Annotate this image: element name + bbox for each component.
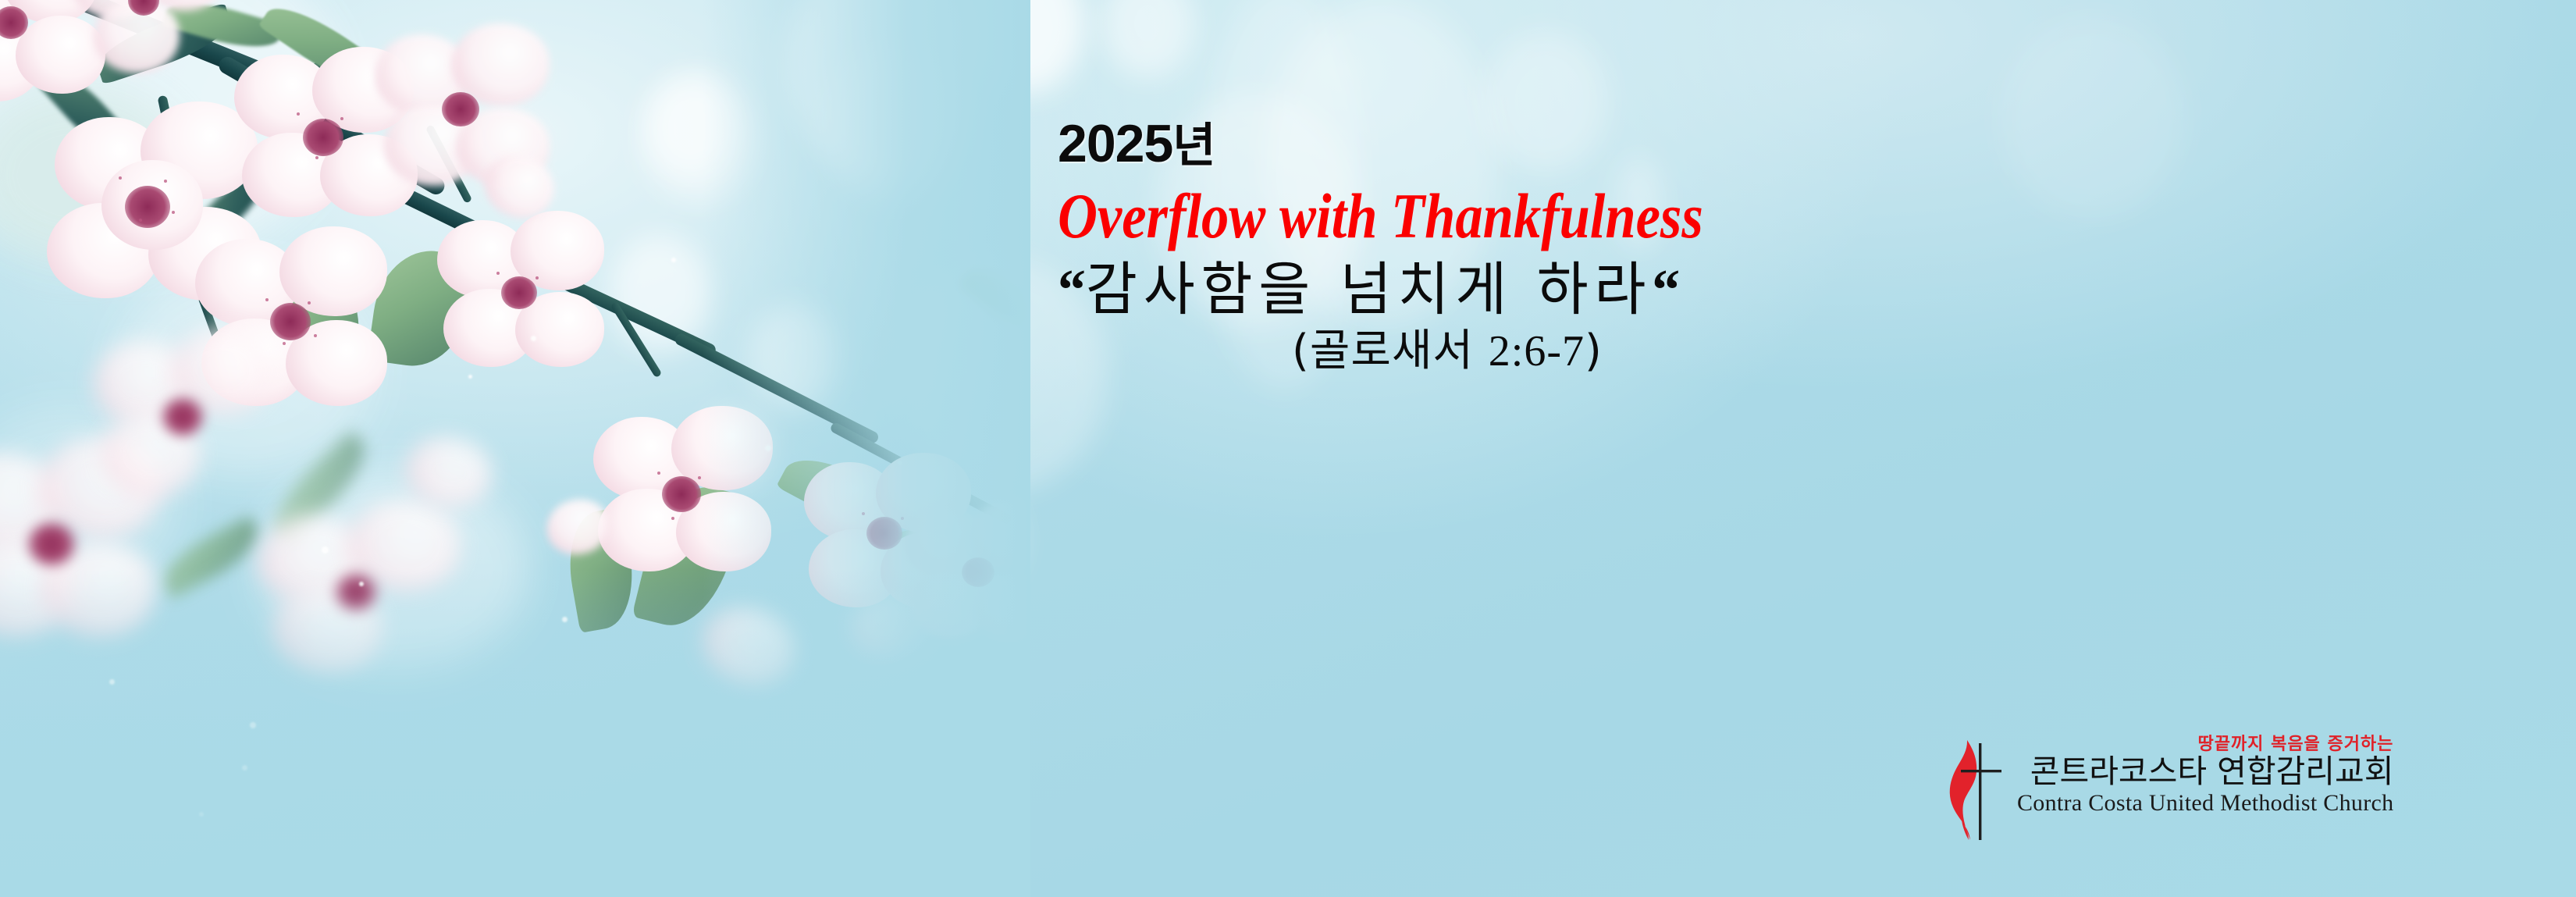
year-suffix: 년 xyxy=(1172,119,1215,173)
cross-and-flame-icon xyxy=(1944,739,2006,842)
scripture-book: 골로새서 xyxy=(1310,326,1474,376)
theme-korean-line: “감사함을 넘치게 하라“ xyxy=(1058,259,2194,322)
theme-korean: 감사함을 넘치게 하라 xyxy=(1086,256,1652,323)
logo-wordmark: 땅끝까지 복음을 증거하는 콘트라코스타 연합감리교회 Contra Costa… xyxy=(2017,735,2393,816)
close-quote: “ xyxy=(1652,258,1680,322)
scripture-reference: (골로새서 2:6-7) xyxy=(1292,327,2229,376)
theme-english: Overflow with Thankfulness xyxy=(1058,184,2065,248)
year-number: 2025 xyxy=(1058,114,1172,173)
church-banner: 2025년 Overflow with Thankfulness “감사함을 넘… xyxy=(0,0,2576,897)
paren-open: ( xyxy=(1292,326,1310,376)
paren-close: ) xyxy=(1585,326,1603,376)
year-line: 2025년 xyxy=(1058,117,2229,170)
open-quote: “ xyxy=(1058,258,1086,322)
church-logo: 땅끝까지 복음을 증거하는 콘트라코스타 연합감리교회 Contra Costa… xyxy=(1944,735,2393,842)
cherry-blossom-artwork xyxy=(0,0,1030,897)
logo-tagline: 땅끝까지 복음을 증거하는 xyxy=(2197,735,2393,753)
church-name-english: Contra Costa United Methodist Church xyxy=(2017,790,2393,816)
headline-block: 2025년 Overflow with Thankfulness “감사함을 넘… xyxy=(1058,117,2229,376)
church-name-korean: 콘트라코스타 연합감리교회 xyxy=(2030,755,2394,788)
scripture-verse: 2:6-7 xyxy=(1489,327,1585,376)
